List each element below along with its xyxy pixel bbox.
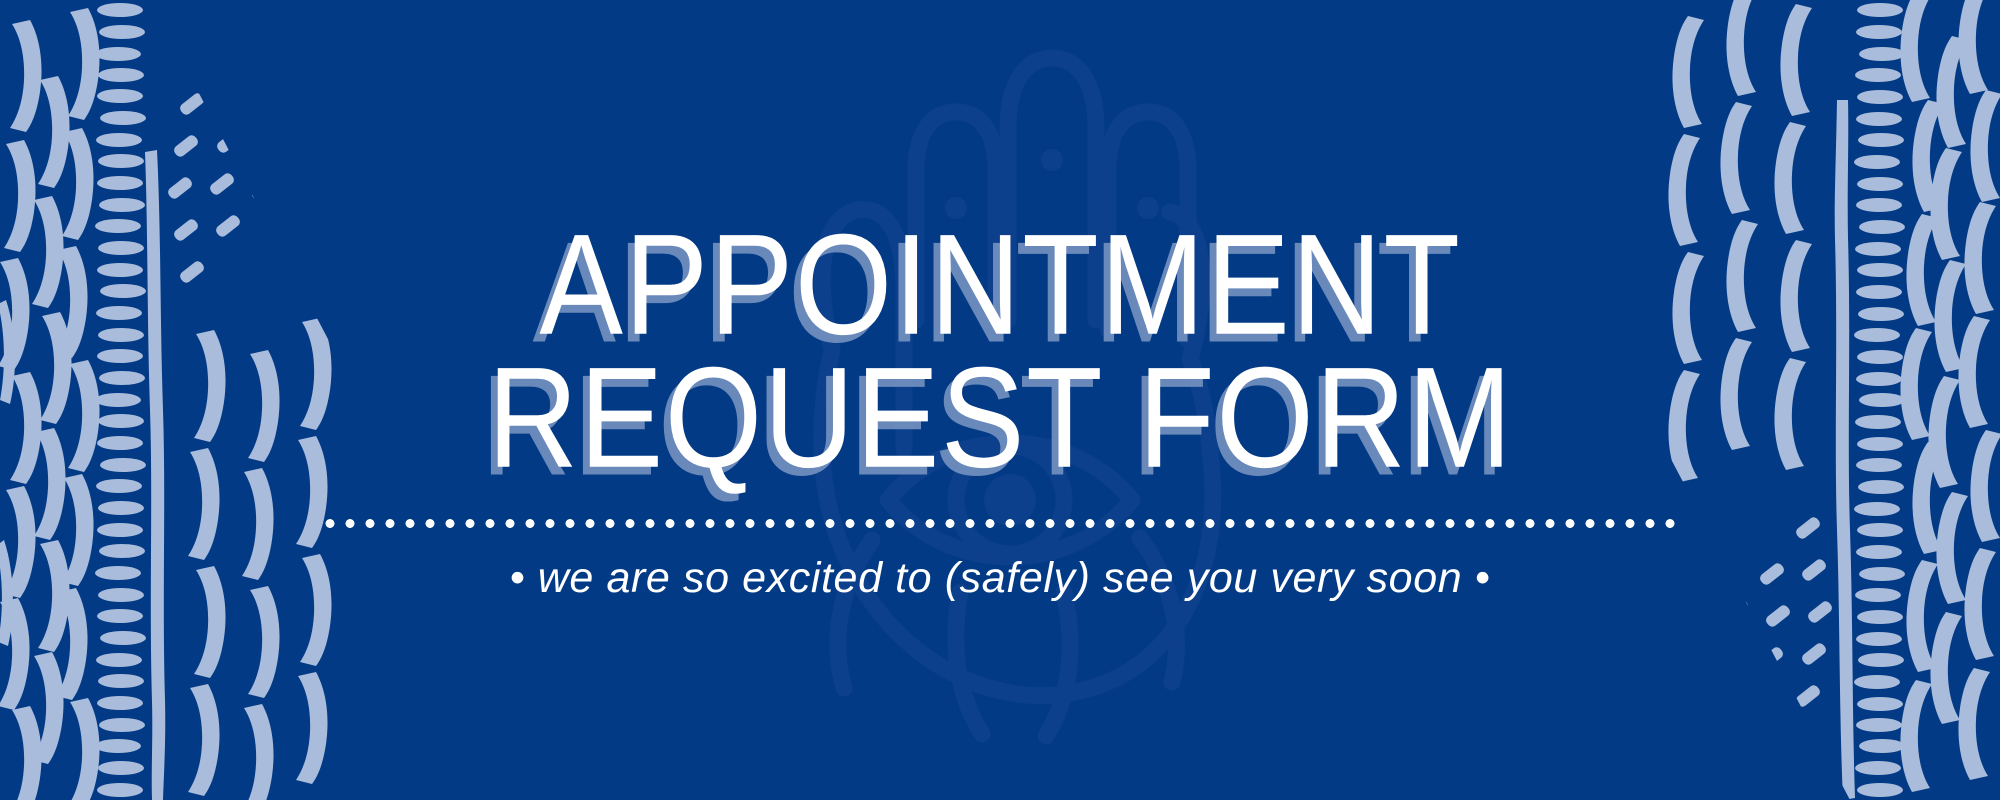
title-line-2: REQUEST FORM [487, 348, 1513, 488]
dotted-divider [320, 519, 1680, 528]
banner-content: APPOINTMENT REQUEST FORM • we are so exc… [0, 0, 2000, 800]
appointment-request-banner: APPOINTMENT REQUEST FORM • we are so exc… [0, 0, 2000, 800]
subtitle-tagline: • we are so excited to (safely) see you … [510, 554, 1491, 603]
page-title: APPOINTMENT REQUEST FORM [477, 215, 1524, 474]
title-line-1: APPOINTMENT [487, 215, 1513, 355]
